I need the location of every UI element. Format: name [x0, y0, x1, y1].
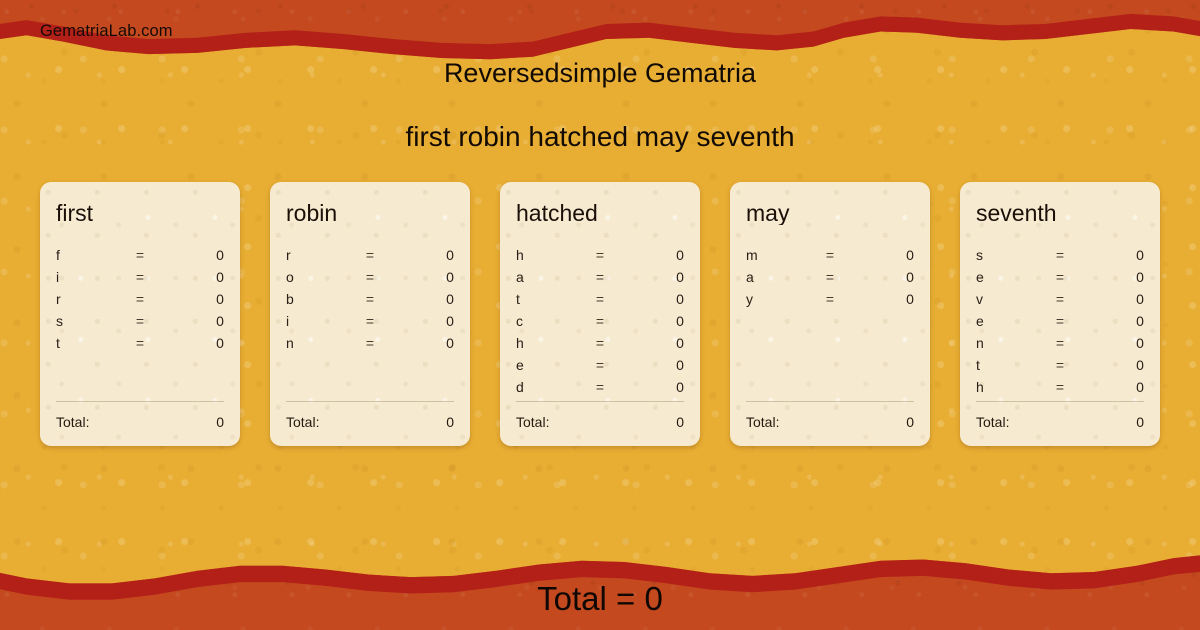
letter-value: 0 [1080, 247, 1144, 263]
letter-value: 0 [160, 313, 224, 329]
letter-char: a [746, 269, 810, 285]
word-card-title: robin [286, 202, 454, 225]
letter-char: c [516, 313, 580, 329]
letter-value-row: n=0 [286, 332, 454, 354]
card-total-value: 0 [1136, 414, 1144, 430]
equals-sign: = [350, 247, 390, 263]
letter-char: h [516, 335, 580, 351]
letter-value: 0 [850, 291, 914, 307]
letter-value: 0 [160, 335, 224, 351]
letter-value-row: i=0 [56, 266, 224, 288]
letter-value-row: i=0 [286, 310, 454, 332]
letter-char: a [516, 269, 580, 285]
equals-sign: = [1040, 291, 1080, 307]
letter-value-row: r=0 [286, 244, 454, 266]
card-total-label: Total: [976, 414, 1136, 430]
word-cards-container: firstf=0i=0r=0s=0t=0Total:0robinr=0o=0b=… [40, 182, 1160, 446]
letter-value-row: m=0 [746, 244, 914, 266]
letter-value: 0 [160, 269, 224, 285]
letter-value-row: t=0 [516, 288, 684, 310]
equals-sign: = [810, 291, 850, 307]
letter-value-row: s=0 [976, 244, 1144, 266]
letter-value-row: e=0 [976, 266, 1144, 288]
equals-sign: = [1040, 357, 1080, 373]
card-total-row: Total:0 [56, 414, 224, 430]
letter-value-list: f=0i=0r=0s=0t=0 [56, 244, 224, 401]
equals-sign: = [580, 269, 620, 285]
word-card-title: hatched [516, 202, 684, 225]
card-total-row: Total:0 [746, 414, 914, 430]
letter-char: r [56, 291, 120, 307]
card-divider [976, 401, 1144, 402]
letter-value-list: h=0a=0t=0c=0h=0e=0d=0 [516, 244, 684, 401]
letter-value: 0 [620, 357, 684, 373]
letter-char: e [516, 357, 580, 373]
letter-char: y [746, 291, 810, 307]
equals-sign: = [120, 313, 160, 329]
card-total-value: 0 [216, 414, 224, 430]
letter-value: 0 [390, 291, 454, 307]
equals-sign: = [350, 335, 390, 351]
equals-sign: = [1040, 335, 1080, 351]
letter-value: 0 [620, 335, 684, 351]
equals-sign: = [350, 291, 390, 307]
equals-sign: = [580, 313, 620, 329]
card-total-label: Total: [746, 414, 906, 430]
equals-sign: = [120, 335, 160, 351]
letter-char: i [56, 269, 120, 285]
letter-value-row: a=0 [746, 266, 914, 288]
card-divider [746, 401, 914, 402]
letter-value-row: r=0 [56, 288, 224, 310]
card-total-label: Total: [286, 414, 446, 430]
letter-value-row: d=0 [516, 376, 684, 398]
equals-sign: = [580, 291, 620, 307]
letter-value: 0 [1080, 335, 1144, 351]
letter-value: 0 [1080, 269, 1144, 285]
equals-sign: = [1040, 379, 1080, 395]
word-card: hatchedh=0a=0t=0c=0h=0e=0d=0Total:0 [500, 182, 700, 446]
equals-sign: = [580, 357, 620, 373]
letter-char: s [56, 313, 120, 329]
card-total-value: 0 [446, 414, 454, 430]
letter-value: 0 [620, 313, 684, 329]
letter-value-row: c=0 [516, 310, 684, 332]
letter-value: 0 [620, 247, 684, 263]
letter-char: i [286, 313, 350, 329]
letter-value-row: y=0 [746, 288, 914, 310]
letter-value-row: b=0 [286, 288, 454, 310]
letter-char: e [976, 269, 1040, 285]
word-card: robinr=0o=0b=0i=0n=0Total:0 [270, 182, 470, 446]
letter-value-list: m=0a=0y=0 [746, 244, 914, 401]
card-total-label: Total: [56, 414, 216, 430]
letter-char: t [976, 357, 1040, 373]
content-layer: GematriaLab.com Reversedsimple Gematria … [0, 0, 1200, 630]
letter-char: h [976, 379, 1040, 395]
letter-value-row: v=0 [976, 288, 1144, 310]
letter-value-row: s=0 [56, 310, 224, 332]
letter-value: 0 [620, 269, 684, 285]
letter-value: 0 [1080, 379, 1144, 395]
card-total-value: 0 [906, 414, 914, 430]
card-total-value: 0 [676, 414, 684, 430]
letter-value: 0 [1080, 313, 1144, 329]
letter-char: t [516, 291, 580, 307]
letter-value: 0 [850, 269, 914, 285]
word-card: maym=0a=0y=0Total:0 [730, 182, 930, 446]
letter-value: 0 [160, 291, 224, 307]
card-total-row: Total:0 [516, 414, 684, 430]
letter-value: 0 [390, 335, 454, 351]
card-divider [516, 401, 684, 402]
letter-char: r [286, 247, 350, 263]
site-brand[interactable]: GematriaLab.com [40, 22, 173, 41]
letter-value: 0 [390, 313, 454, 329]
letter-value: 0 [390, 269, 454, 285]
equals-sign: = [580, 379, 620, 395]
letter-value-row: t=0 [56, 332, 224, 354]
letter-value-list: s=0e=0v=0e=0n=0t=0h=0 [976, 244, 1144, 401]
equals-sign: = [120, 291, 160, 307]
letter-char: s [976, 247, 1040, 263]
letter-value-row: n=0 [976, 332, 1144, 354]
word-card-title: seventh [976, 202, 1144, 225]
letter-char: v [976, 291, 1040, 307]
cipher-title: Reversedsimple Gematria [0, 58, 1200, 89]
letter-value-row: o=0 [286, 266, 454, 288]
grand-total: Total = 0 [0, 580, 1200, 618]
equals-sign: = [1040, 269, 1080, 285]
letter-value-list: r=0o=0b=0i=0n=0 [286, 244, 454, 401]
letter-value: 0 [620, 291, 684, 307]
equals-sign: = [120, 247, 160, 263]
letter-value-row: e=0 [976, 310, 1144, 332]
letter-value: 0 [1080, 357, 1144, 373]
result-canvas: GematriaLab.com Reversedsimple Gematria … [0, 0, 1200, 630]
letter-value-row: h=0 [516, 244, 684, 266]
letter-char: e [976, 313, 1040, 329]
equals-sign: = [350, 313, 390, 329]
word-card: firstf=0i=0r=0s=0t=0Total:0 [40, 182, 240, 446]
letter-value: 0 [390, 247, 454, 263]
letter-value-row: e=0 [516, 354, 684, 376]
equals-sign: = [810, 247, 850, 263]
letter-char: b [286, 291, 350, 307]
letter-char: f [56, 247, 120, 263]
letter-char: n [976, 335, 1040, 351]
phrase-heading: first robin hatched may seventh [0, 121, 1200, 153]
equals-sign: = [1040, 247, 1080, 263]
card-total-row: Total:0 [286, 414, 454, 430]
equals-sign: = [580, 247, 620, 263]
equals-sign: = [580, 335, 620, 351]
letter-value-row: a=0 [516, 266, 684, 288]
card-divider [286, 401, 454, 402]
word-card-title: may [746, 202, 914, 225]
letter-char: h [516, 247, 580, 263]
equals-sign: = [1040, 313, 1080, 329]
card-divider [56, 401, 224, 402]
letter-value-row: h=0 [516, 332, 684, 354]
word-card: sevenths=0e=0v=0e=0n=0t=0h=0Total:0 [960, 182, 1160, 446]
letter-char: d [516, 379, 580, 395]
letter-char: t [56, 335, 120, 351]
card-total-label: Total: [516, 414, 676, 430]
letter-value: 0 [1080, 291, 1144, 307]
letter-value-row: t=0 [976, 354, 1144, 376]
letter-value: 0 [620, 379, 684, 395]
card-total-row: Total:0 [976, 414, 1144, 430]
equals-sign: = [810, 269, 850, 285]
letter-value: 0 [160, 247, 224, 263]
word-card-title: first [56, 202, 224, 225]
letter-char: o [286, 269, 350, 285]
equals-sign: = [350, 269, 390, 285]
letter-value: 0 [850, 247, 914, 263]
equals-sign: = [120, 269, 160, 285]
letter-value-row: h=0 [976, 376, 1144, 398]
letter-char: n [286, 335, 350, 351]
letter-char: m [746, 247, 810, 263]
letter-value-row: f=0 [56, 244, 224, 266]
